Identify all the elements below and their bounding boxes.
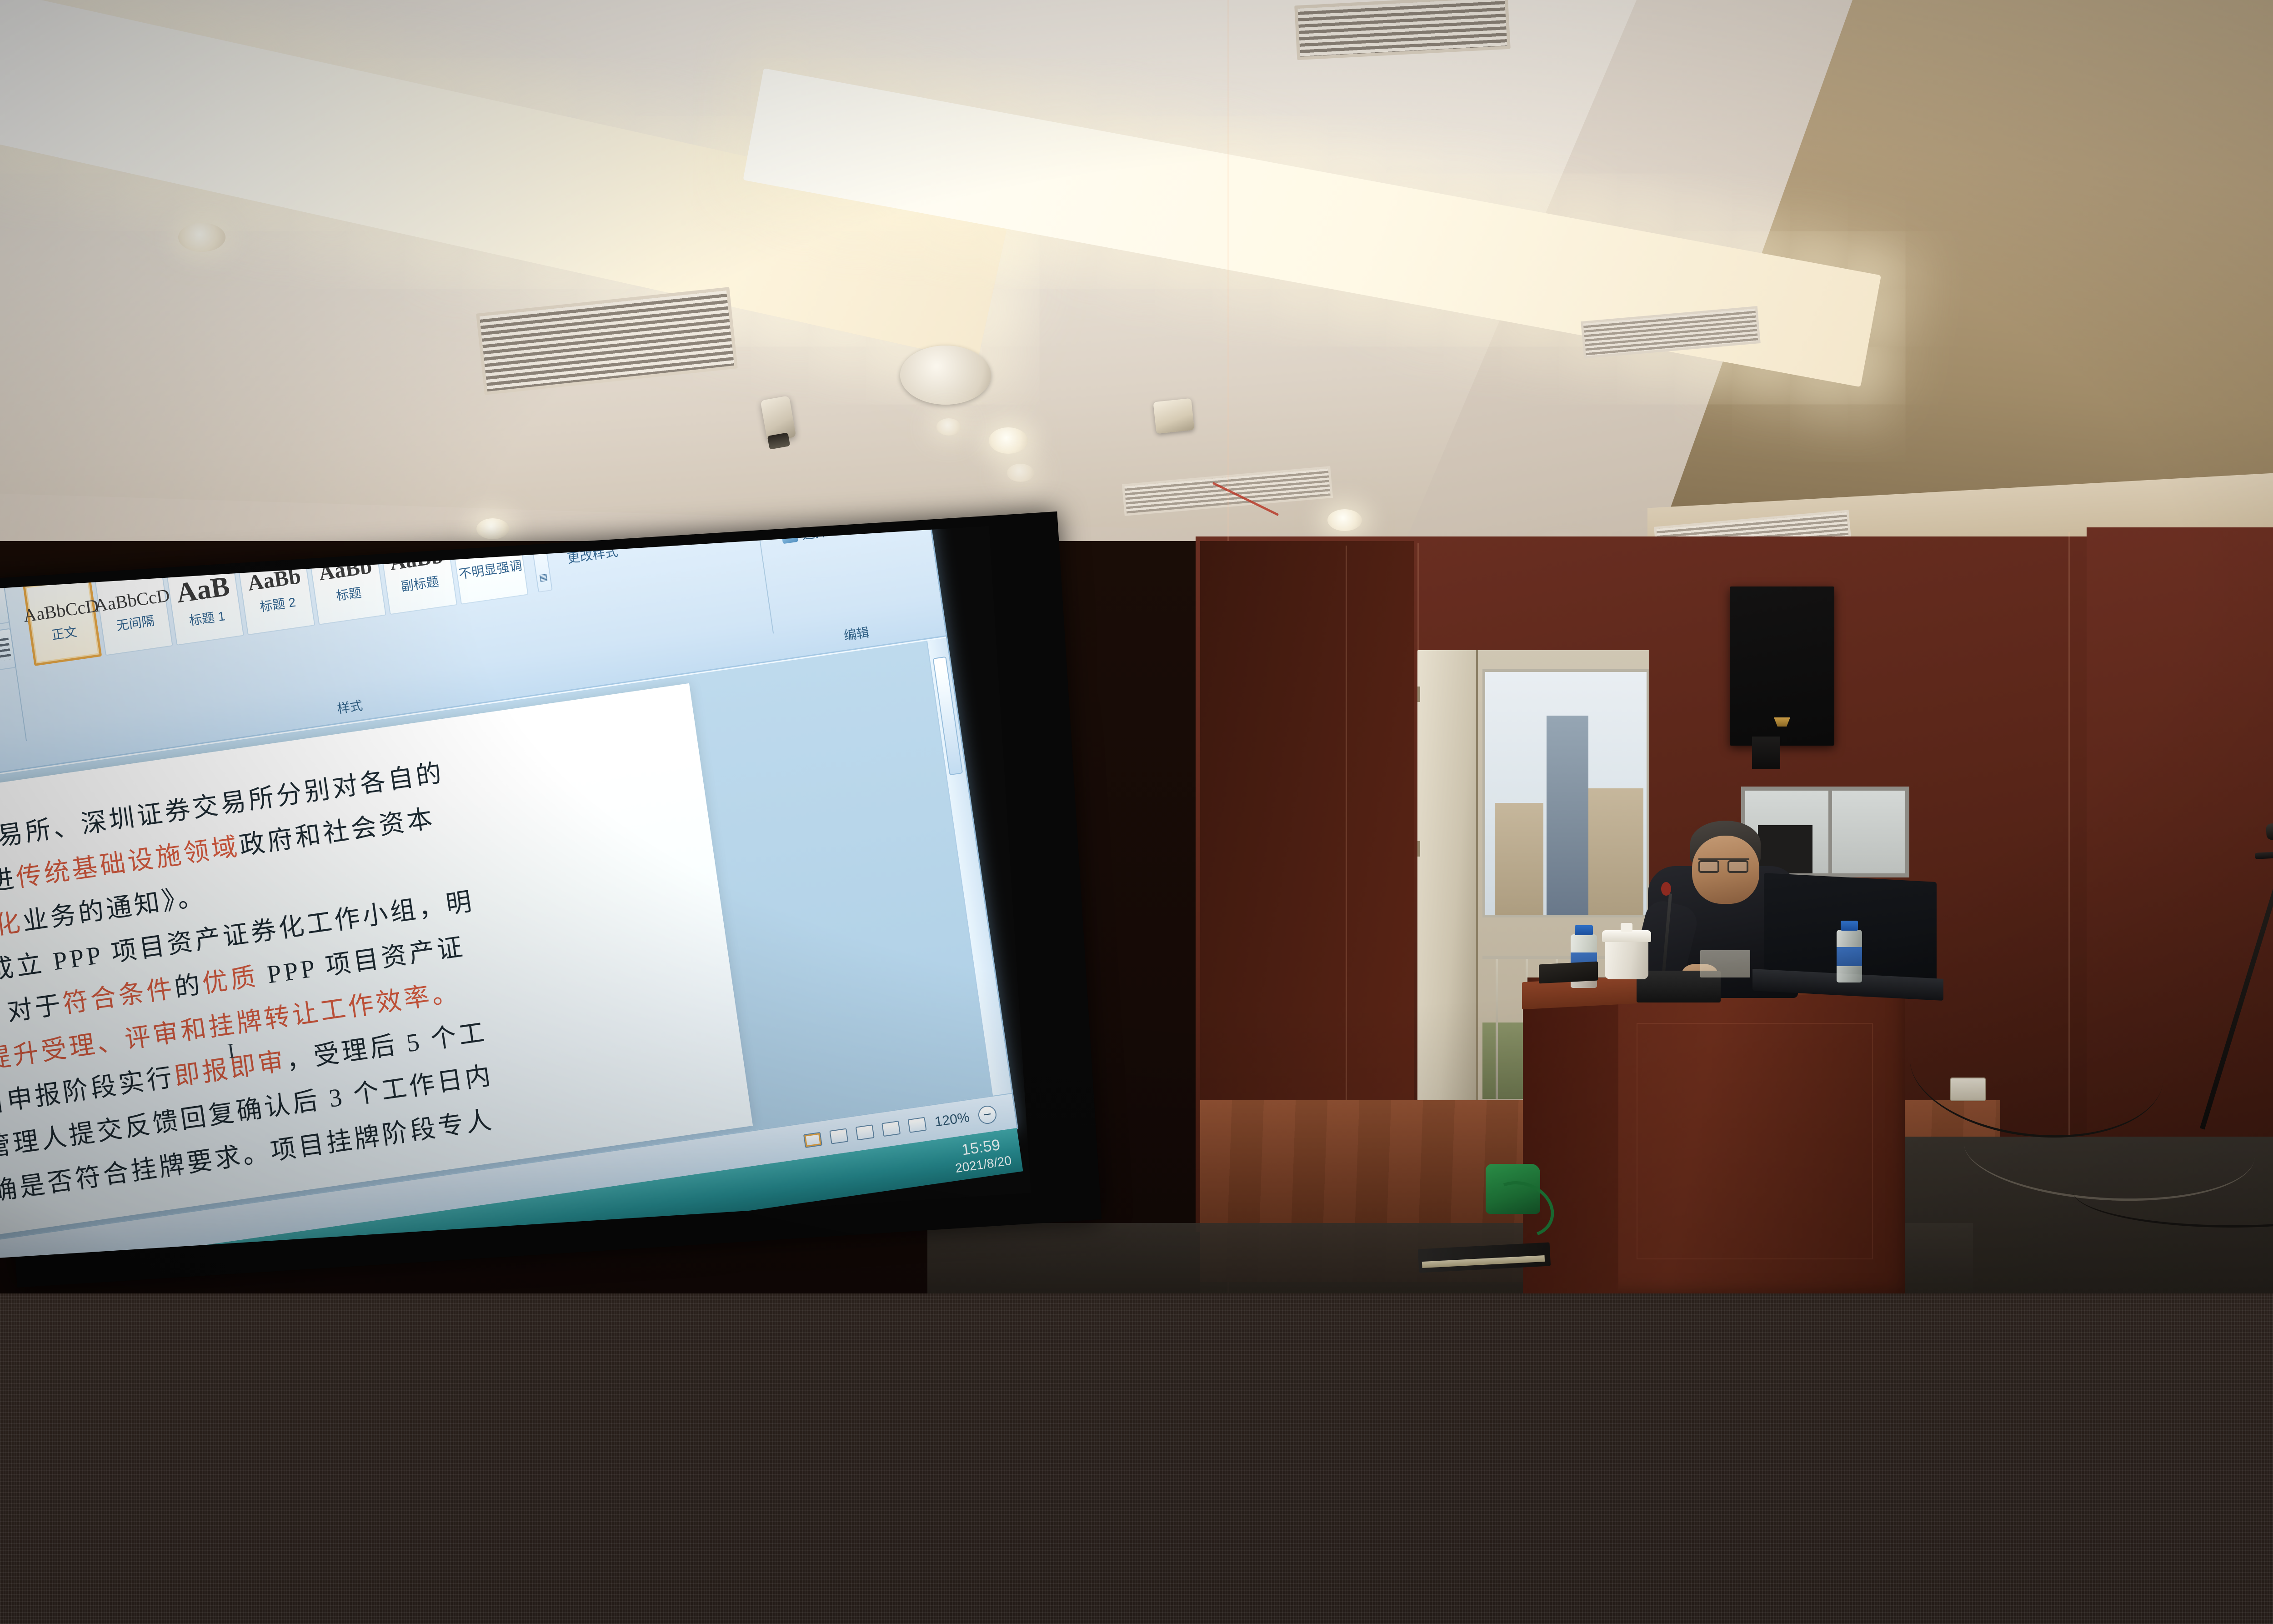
bottle-cap <box>1575 925 1593 935</box>
doc-text-run-highlight: 优质 <box>200 962 260 998</box>
ribbon-group-editing: 查找 ▾ 替换 选择 ▾ <box>764 526 922 632</box>
microphone-head-icon <box>1661 882 1671 896</box>
ceiling-downlight-7 <box>1007 464 1034 482</box>
borders-icon <box>0 638 11 661</box>
image-bottom-band <box>0 1293 2273 1624</box>
more-styles-icon: ▤ <box>538 571 548 583</box>
system-clock[interactable]: 15:59 2021/8/20 <box>951 1134 1012 1176</box>
borders-button[interactable] <box>0 628 16 671</box>
ceiling-downlight-1 <box>989 427 1028 454</box>
style-name-text: 无间隔 <box>115 611 155 634</box>
style-name-text: 正文 <box>50 622 78 644</box>
show-formatting-marks-button[interactable]: ¶ <box>0 583 10 627</box>
view-print-layout-button[interactable] <box>803 1132 822 1148</box>
bottle-label <box>1837 947 1862 966</box>
zoom-out-button[interactable]: − <box>977 1104 997 1125</box>
ceiling-downlight-2 <box>178 223 225 252</box>
ceiling-downlight-4 <box>936 418 961 436</box>
teacup-knob <box>1621 923 1632 932</box>
view-full-screen-reading-button[interactable] <box>830 1128 849 1144</box>
style-name-text: 标题 2 <box>259 592 297 615</box>
glasses-lens-right <box>1727 860 1748 873</box>
building-mid <box>1588 788 1643 915</box>
podium-remote-device[interactable] <box>1539 962 1598 984</box>
zoom-level-label: 120% <box>934 1110 971 1130</box>
ceiling-downlight-5 <box>1327 509 1362 531</box>
door-hinge-bottom <box>1417 841 1420 857</box>
presenter-glasses-icon <box>1698 858 1749 872</box>
glasses-lens-left <box>1698 860 1719 873</box>
podium-front-panel <box>1637 1023 1873 1259</box>
water-bottle-podium-right <box>1837 930 1862 982</box>
word-window-chrome: 2014-2017PPP政策文件汇总 - Microsoft Word — ❐ … <box>0 526 1018 1258</box>
building-tower <box>1547 716 1588 915</box>
speaker-mount-bracket <box>1752 737 1780 769</box>
word-application-window: 2014-2017PPP政策文件汇总 - Microsoft Word — ❐ … <box>0 526 1018 1258</box>
railing-bar <box>1496 959 1498 1099</box>
podium-nameplate <box>1700 950 1750 977</box>
ceiling-downlight-3 <box>476 518 509 539</box>
window-mullion <box>1828 791 1832 873</box>
doc-text-run-highlight: 符合条件 <box>61 975 176 1019</box>
projection-screen: 2014-2017PPP政策文件汇总 - Microsoft Word — ❐ … <box>0 526 1031 1258</box>
building-far <box>1495 803 1543 915</box>
door-leaf[interactable] <box>1417 650 1478 1128</box>
screenshot-root: 2014-2017PPP政策文件汇总 - Microsoft Word — ❐ … <box>0 0 2273 1624</box>
style-name-text: 标题 <box>335 582 362 604</box>
interior-window <box>1741 787 1909 877</box>
style-name-text: 副标题 <box>400 571 440 595</box>
speaker-logo-icon <box>1774 717 1790 727</box>
smoke-detector-icon <box>1153 398 1195 434</box>
teacup-podium <box>1605 937 1648 979</box>
bottle-cap <box>1841 921 1858 931</box>
style-item-body[interactable]: AaBbCcD 正文 <box>23 575 102 666</box>
style-name-text: 标题 1 <box>188 606 226 629</box>
doc-text-run: 的 <box>173 971 205 1002</box>
door-hinge-top <box>1417 687 1420 702</box>
view-outline-button[interactable] <box>881 1121 901 1137</box>
wall-speaker <box>1730 586 1834 746</box>
view-web-layout-button[interactable] <box>856 1124 875 1140</box>
ceiling-speaker-dome <box>900 346 991 405</box>
view-draft-button[interactable] <box>908 1117 927 1133</box>
conference-room: 2014-2017PPP政策文件汇总 - Microsoft Word — ❐ … <box>0 0 2273 1293</box>
style-sample-text: AaBbCcD <box>22 594 100 626</box>
style-sample-text: AaBbCcD <box>93 584 171 616</box>
balcony-window <box>1482 669 1649 917</box>
